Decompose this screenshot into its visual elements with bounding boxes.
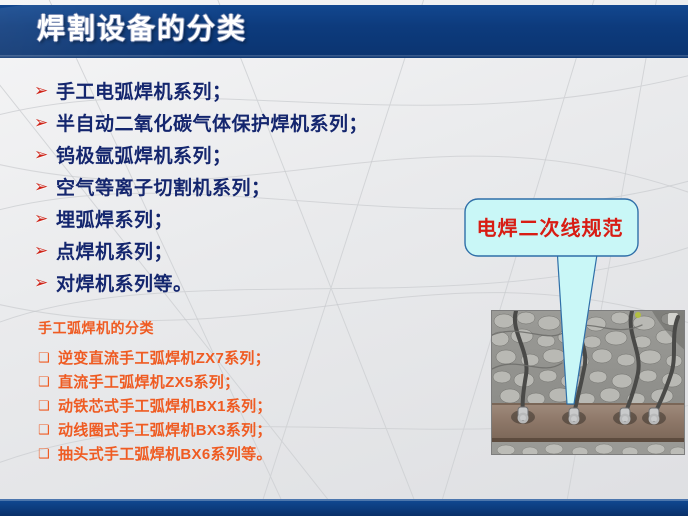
page-title: 焊割设备的分类 (37, 10, 247, 48)
slide-footer-band (0, 499, 688, 516)
arrow-bullet-icon: ➢ (34, 82, 56, 99)
arrow-bullet-icon: ➢ (34, 242, 56, 259)
list-item: ❑ 逆变直流手工弧焊机ZX7系列； (38, 345, 272, 369)
square-bullet-icon: ❑ (38, 375, 58, 388)
list-item: ➢ 钨极氩弧焊机系列； (34, 138, 368, 170)
sub-section: 手工弧焊机的分类 ❑ 逆变直流手工弧焊机ZX7系列； ❑ 直流手工弧焊机ZX5系… (38, 318, 272, 465)
presentation-slide: 焊割设备的分类 ➢ 手工电弧焊机系列； ➢ 半自动二氧化碳气体保护焊机系列； ➢… (0, 0, 688, 516)
list-item: ➢ 点焊机系列； (34, 234, 368, 266)
list-item-label: 对焊机系列等。 (56, 269, 193, 296)
list-item-label: 半自动二氧化碳气体保护焊机系列； (56, 109, 368, 136)
list-item-label: 逆变直流手工弧焊机ZX7系列； (58, 347, 270, 368)
list-item-label: 钨极氩弧焊机系列； (56, 141, 232, 168)
list-item: ➢ 空气等离子切割机系列； (34, 170, 368, 202)
list-item-label: 抽头式手工弧焊机BX6系列等。 (58, 443, 272, 464)
arrow-bullet-icon: ➢ (34, 274, 56, 291)
list-item-label: 手工电弧焊机系列； (56, 77, 232, 104)
list-item: ❑ 动铁芯式手工弧焊机BX1系列； (38, 393, 272, 417)
square-bullet-icon: ❑ (38, 351, 58, 364)
square-bullet-icon: ❑ (38, 423, 58, 436)
list-item-label: 直流手工弧焊机ZX5系列； (58, 371, 239, 392)
list-item: ➢ 半自动二氧化碳气体保护焊机系列； (34, 106, 368, 138)
sub-section-heading: 手工弧焊机的分类 (38, 318, 272, 338)
main-bullet-list: ➢ 手工电弧焊机系列； ➢ 半自动二氧化碳气体保护焊机系列； ➢ 钨极氩弧焊机系… (34, 74, 368, 298)
square-bullet-icon: ❑ (38, 399, 58, 412)
square-bullet-icon: ❑ (38, 447, 58, 460)
arrow-bullet-icon: ➢ (34, 114, 56, 131)
list-item-label: 点焊机系列； (56, 237, 173, 264)
rail-cables-photo (491, 310, 685, 455)
list-item: ❑ 抽头式手工弧焊机BX6系列等。 (38, 441, 272, 465)
list-item: ➢ 手工电弧焊机系列； (34, 74, 368, 106)
arrow-bullet-icon: ➢ (34, 146, 56, 163)
list-item-label: 动铁芯式手工弧焊机BX1系列； (58, 395, 272, 416)
list-item: ➢ 埋弧焊系列； (34, 202, 368, 234)
list-item-label: 动线圈式手工弧焊机BX3系列； (58, 419, 272, 440)
arrow-bullet-icon: ➢ (34, 178, 56, 195)
list-item-label: 埋弧焊系列； (56, 205, 173, 232)
list-item: ❑ 直流手工弧焊机ZX5系列； (38, 369, 272, 393)
callout-label: 电焊二次线规范 (462, 196, 638, 256)
list-item: ➢ 对焊机系列等。 (34, 266, 368, 298)
photo-illustration (492, 311, 685, 455)
arrow-bullet-icon: ➢ (34, 210, 56, 227)
list-item-label: 空气等离子切割机系列； (56, 173, 271, 200)
list-item: ❑ 动线圈式手工弧焊机BX3系列； (38, 417, 272, 441)
